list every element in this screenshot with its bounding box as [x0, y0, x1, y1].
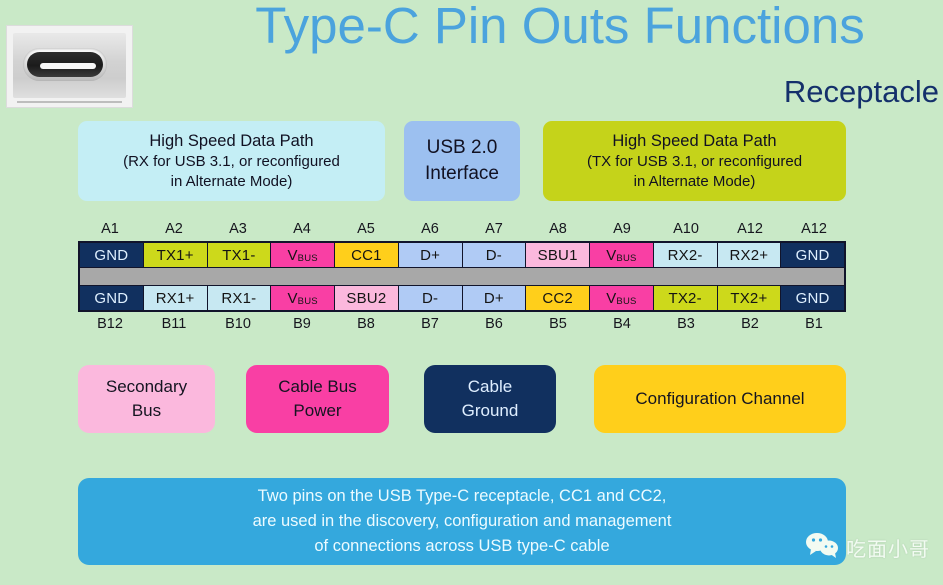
pin-signal-subscript: BUS — [298, 296, 318, 307]
pin-signal-label: V — [287, 247, 297, 264]
category-line-1: High Speed Data Path — [612, 130, 776, 152]
pin-number-a7-6: A7 — [462, 220, 526, 238]
pin-signal-label: RX1+ — [156, 290, 195, 307]
pin-number-b7-5: B7 — [398, 315, 462, 333]
note-line-3: of connections across USB type-C cable — [314, 534, 609, 559]
pin-number-b2-10: B2 — [718, 315, 782, 333]
pin-number-a6-5: A6 — [398, 220, 462, 238]
pin-signal-label: SBU1 — [538, 247, 578, 264]
pin-number-b6-6: B6 — [462, 315, 526, 333]
category-box-high-speed-rx: High Speed Data Path (RX for USB 3.1, or… — [78, 121, 385, 201]
pin-cell-rx2-minus: RX2- — [654, 243, 718, 267]
pin-number-a12-10: A12 — [718, 220, 782, 238]
category-line-2: Interface — [425, 161, 499, 187]
pin-signal-label: TX2- — [668, 290, 701, 307]
pin-number-a9-8: A9 — [590, 220, 654, 238]
pin-signal-label: GND — [94, 247, 128, 264]
pin-number-b3-9: B3 — [654, 315, 718, 333]
pin-signal-label: RX1- — [221, 290, 256, 307]
pin-cell-rx1-minus: RX1- — [208, 286, 272, 310]
category-box-high-speed-tx: High Speed Data Path (TX for USB 3.1, or… — [543, 121, 846, 201]
legend-line-1: Configuration Channel — [635, 387, 804, 411]
pin-number-b11-1: B11 — [142, 315, 206, 333]
pin-signal-label: V — [287, 290, 297, 307]
pin-cell-rx1-plus: RX1+ — [144, 286, 208, 310]
legend-configuration-channel: Configuration Channel — [594, 365, 846, 433]
pin-cell-gnd: GND — [80, 243, 144, 267]
pin-cell-rx2-plus: RX2+ — [718, 243, 782, 267]
pin-number-b12-0: B12 — [78, 315, 142, 333]
pin-number-row-b: B12B11B10B9B8B7B6B5B4B3B2B1 — [78, 315, 846, 333]
pin-cell-sbu2: SBU2 — [335, 286, 399, 310]
category-line-2: (TX for USB 3.1, or reconfigured — [587, 152, 802, 172]
pin-signal-label: D- — [422, 290, 438, 307]
pin-cell-tx1-minus: TX1- — [208, 243, 272, 267]
pin-signal-label: RX2- — [668, 247, 703, 264]
legend-cable-bus-power: Cable Bus Power — [246, 365, 389, 433]
category-line-3: in Alternate Mode) — [171, 172, 293, 192]
legend-secondary-bus: Secondary Bus — [78, 365, 215, 433]
pin-signal-label: D+ — [420, 247, 440, 264]
pin-cell-cc2: CC2 — [526, 286, 590, 310]
pin-cell-gnd: GND — [80, 286, 144, 310]
page-title: Type-C Pin Outs Functions — [180, 0, 940, 58]
pin-number-b5-7: B5 — [526, 315, 590, 333]
legend-line-1: Cable Bus — [278, 375, 356, 399]
legend-line-1: Cable — [468, 375, 512, 399]
watermark: 吃面小哥 — [805, 532, 930, 563]
pin-number-a4-3: A4 — [270, 220, 334, 238]
usb-type-c-receptacle-icon — [6, 25, 133, 108]
legend-line-2: Bus — [132, 399, 161, 423]
page-subtitle: Receptacle — [784, 74, 939, 110]
pin-cell-gnd: GND — [781, 286, 844, 310]
pin-signal-subscript: BUS — [616, 253, 636, 264]
connector-port-cavity — [27, 52, 103, 77]
pin-number-a3-2: A3 — [206, 220, 270, 238]
pin-cell-d-plus: D+ — [463, 286, 527, 310]
pin-cell-d-plus: D+ — [399, 243, 463, 267]
watermark-label: 吃面小哥 — [846, 533, 930, 562]
connector-plate-seam — [17, 101, 122, 103]
pin-signal-subscript: BUS — [616, 296, 636, 307]
category-line-1: High Speed Data Path — [149, 130, 313, 152]
pin-row-divider — [80, 267, 844, 286]
pin-signal-label: TX1- — [222, 247, 255, 264]
legend-line-2: Ground — [462, 399, 519, 423]
pin-out-table: GNDTX1+TX1-VBUSCC1D+D-SBU1VBUSRX2-RX2+GN… — [78, 241, 846, 312]
pin-signal-label: GND — [94, 290, 128, 307]
category-line-3: in Alternate Mode) — [634, 172, 756, 192]
pin-signal-label: GND — [796, 247, 830, 264]
pin-number-b8-4: B8 — [334, 315, 398, 333]
pin-number-b10-2: B10 — [206, 315, 270, 333]
pin-cell-tx2-minus: TX2- — [654, 286, 718, 310]
pin-number-a12-11: A12 — [782, 220, 846, 238]
pin-cell-tx1-plus: TX1+ — [144, 243, 208, 267]
pin-number-row-a: A1A2A3A4A5A6A7A8A9A10A12A12 — [78, 220, 846, 238]
pin-number-a5-4: A5 — [334, 220, 398, 238]
pin-cell-vbus: VBUS — [590, 286, 654, 310]
pin-signal-label: GND — [796, 290, 830, 307]
pin-cell-gnd: GND — [781, 243, 844, 267]
pin-signal-label: D+ — [484, 290, 504, 307]
pin-cell-d-minus: D- — [399, 286, 463, 310]
category-line-2: (RX for USB 3.1, or reconfigured — [123, 152, 340, 172]
legend-line-1: Secondary — [106, 375, 187, 399]
pin-cell-vbus: VBUS — [271, 286, 335, 310]
pin-cell-cc1: CC1 — [335, 243, 399, 267]
pin-cell-sbu1: SBU1 — [526, 243, 590, 267]
note-line-2: are used in the discovery, configuration… — [253, 509, 672, 534]
pin-number-a10-9: A10 — [654, 220, 718, 238]
pin-cell-vbus: VBUS — [590, 243, 654, 267]
pin-cell-vbus: VBUS — [271, 243, 335, 267]
pin-number-a1-0: A1 — [78, 220, 142, 238]
note-line-1: Two pins on the USB Type-C receptacle, C… — [258, 484, 667, 509]
pin-number-a2-1: A2 — [142, 220, 206, 238]
pin-signal-label: V — [606, 290, 616, 307]
pin-cell-d-minus: D- — [463, 243, 527, 267]
category-box-usb2-interface: USB 2.0 Interface — [404, 121, 520, 201]
legend-cable-ground: Cable Ground — [424, 365, 556, 433]
pin-signal-label: CC2 — [542, 290, 573, 307]
pin-signal-label: TX2+ — [730, 290, 767, 307]
pin-signal-label: RX2+ — [730, 247, 769, 264]
legend-line-2: Power — [293, 399, 341, 423]
pin-signal-label: CC1 — [351, 247, 382, 264]
pin-number-b4-8: B4 — [590, 315, 654, 333]
pin-signal-row-a: GNDTX1+TX1-VBUSCC1D+D-SBU1VBUSRX2-RX2+GN… — [80, 243, 844, 267]
pin-signal-label: D- — [486, 247, 502, 264]
connector-port-shell — [23, 48, 107, 81]
pin-number-b9-3: B9 — [270, 315, 334, 333]
wechat-icon — [805, 532, 839, 563]
pin-number-b1-11: B1 — [782, 315, 846, 333]
pin-signal-row-b: GNDRX1+RX1-VBUSSBU2D-D+CC2VBUSTX2-TX2+GN… — [80, 286, 844, 310]
pin-signal-label: SBU2 — [346, 290, 386, 307]
pin-signal-label: TX1+ — [157, 247, 194, 264]
category-line-1: USB 2.0 — [427, 135, 498, 161]
connector-tongue — [40, 63, 96, 69]
pin-signal-subscript: BUS — [298, 253, 318, 264]
pin-number-a8-7: A8 — [526, 220, 590, 238]
pin-signal-label: V — [606, 247, 616, 264]
pin-cell-tx2-plus: TX2+ — [718, 286, 782, 310]
note-banner: Two pins on the USB Type-C receptacle, C… — [78, 478, 846, 565]
